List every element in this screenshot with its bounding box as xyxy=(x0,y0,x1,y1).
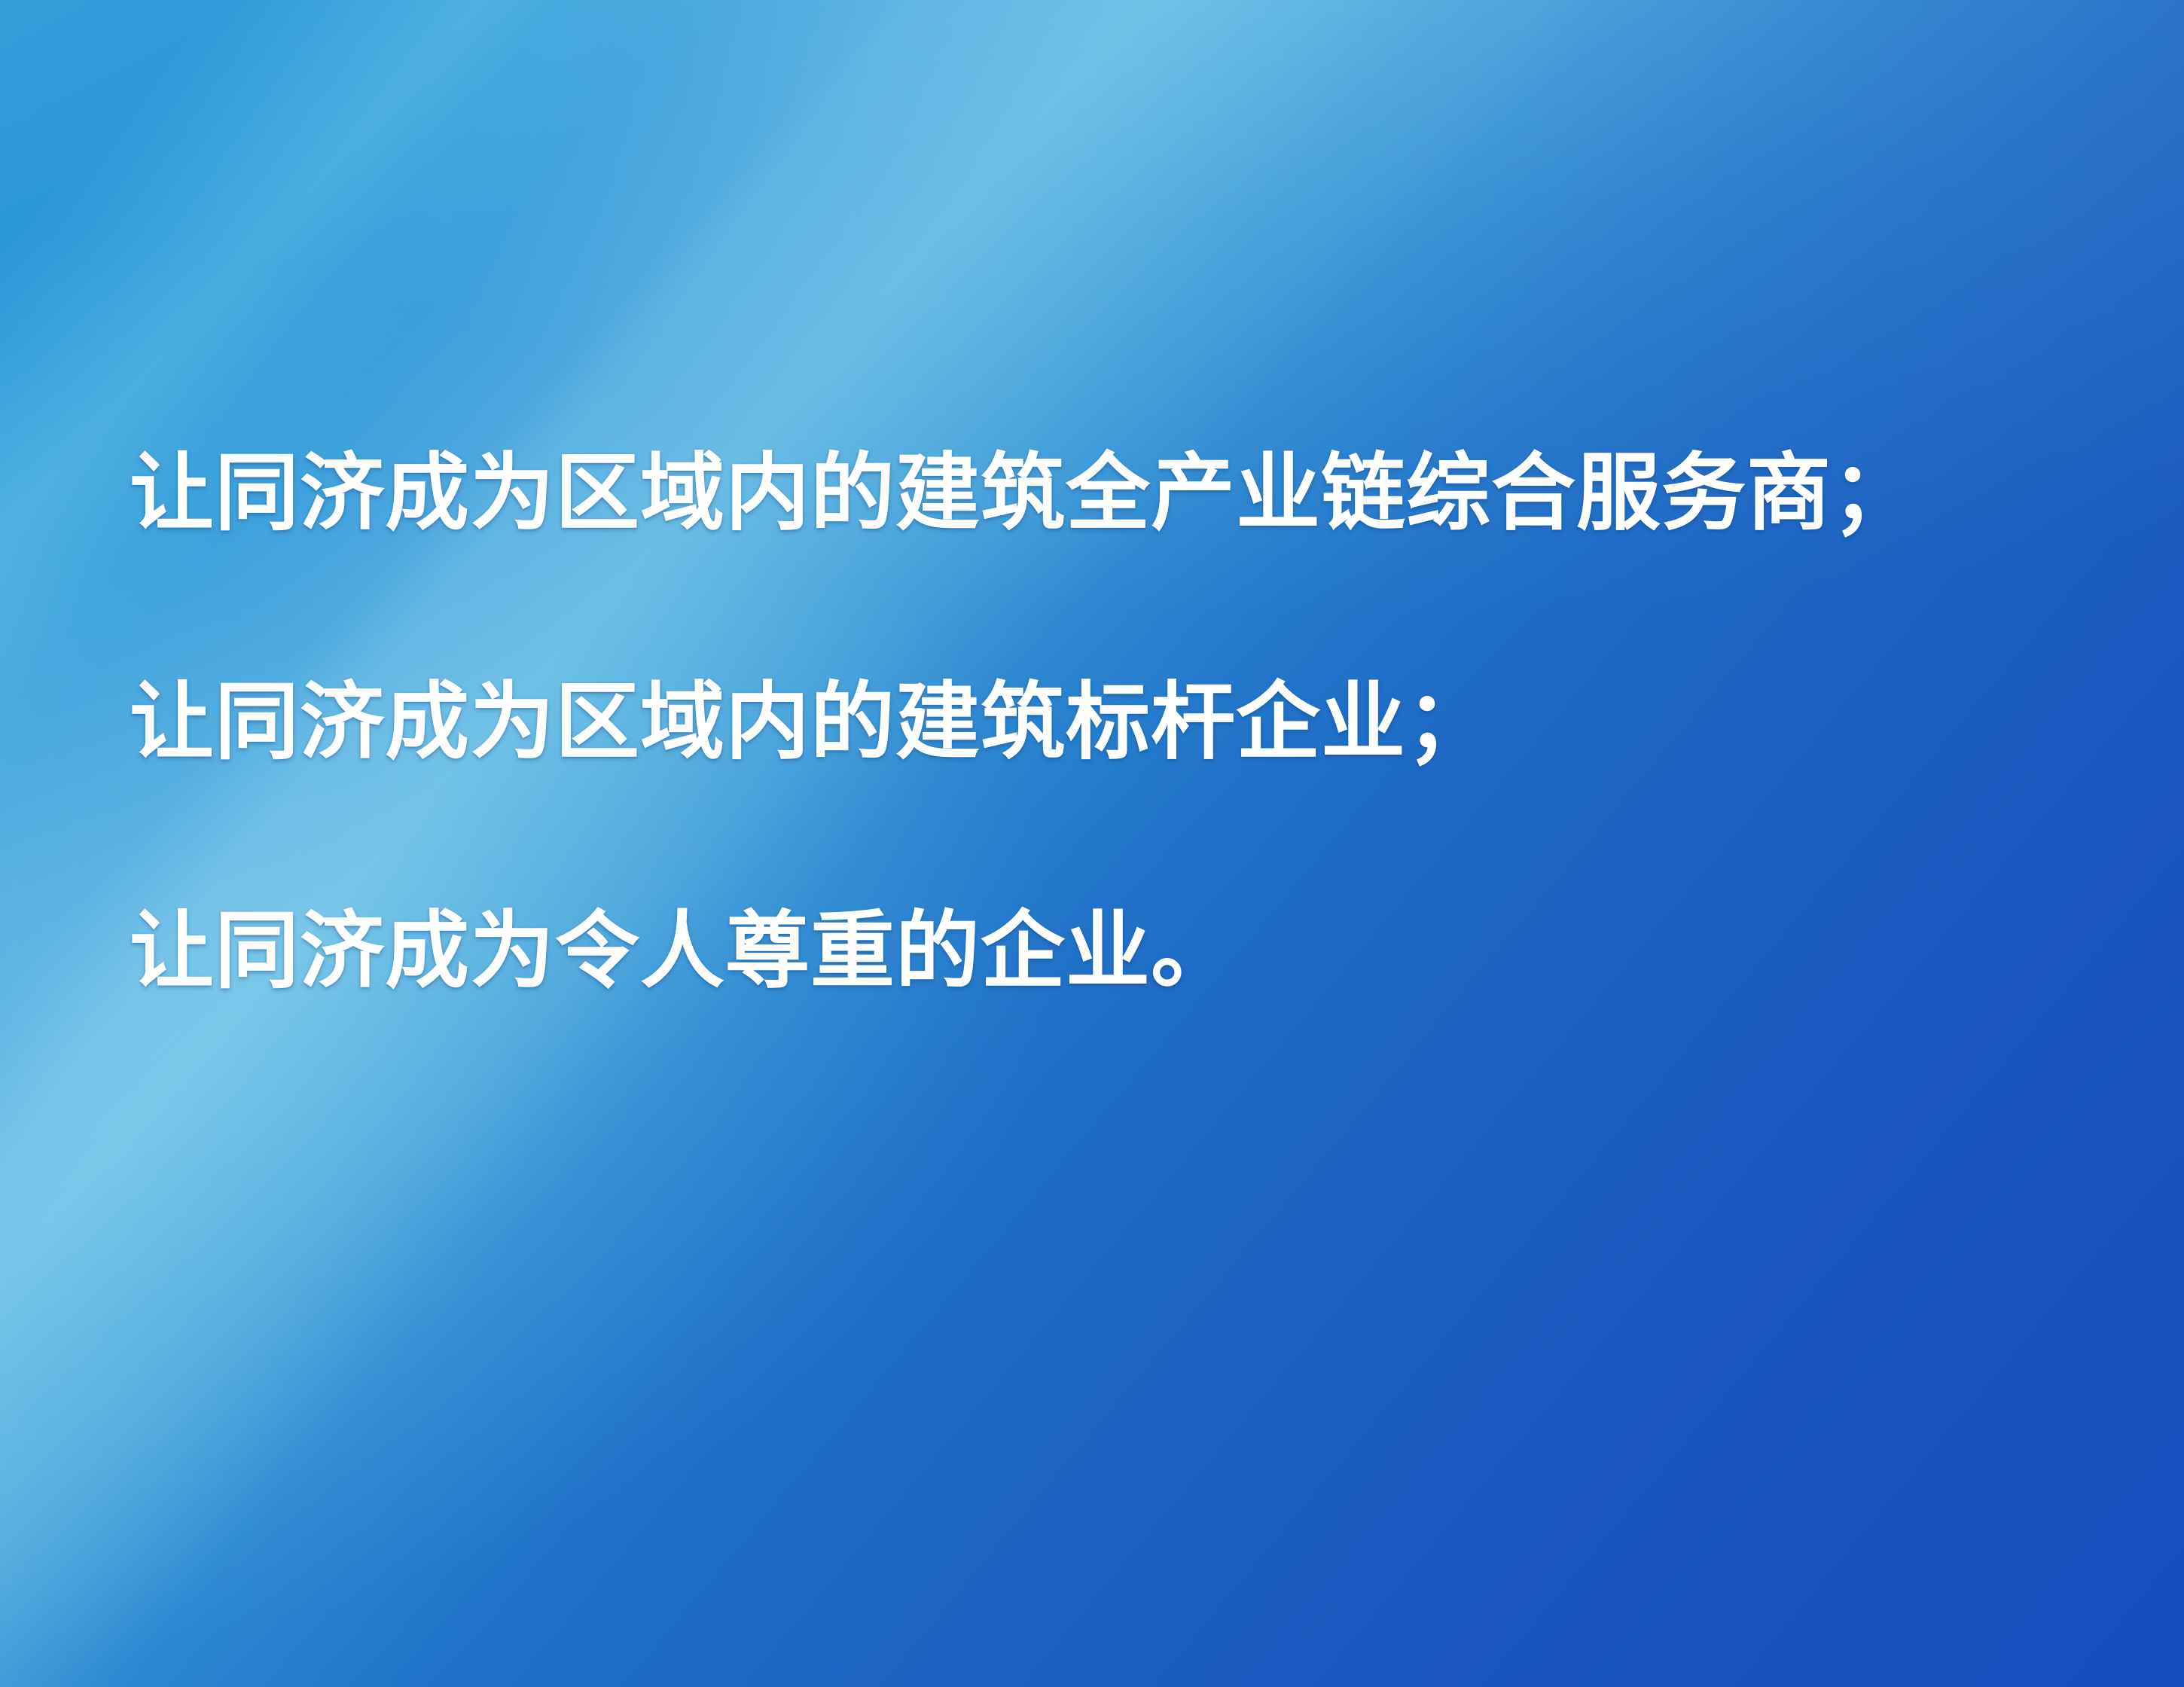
presentation-slide: 让同济成为区域内的建筑全产业链综合服务商； 让同济成为区域内的建筑标杆企业； 让… xyxy=(0,0,2184,1687)
slide-text-block: 让同济成为区域内的建筑全产业链综合服务商； 让同济成为区域内的建筑标杆企业； 让… xyxy=(130,452,2088,994)
slide-text-line-1: 让同济成为区域内的建筑全产业链综合服务商； xyxy=(130,452,2088,536)
slide-text-line-3: 让同济成为令人尊重的企业。 xyxy=(130,910,2088,994)
slide-text-line-2: 让同济成为区域内的建筑标杆企业； xyxy=(130,681,2088,765)
